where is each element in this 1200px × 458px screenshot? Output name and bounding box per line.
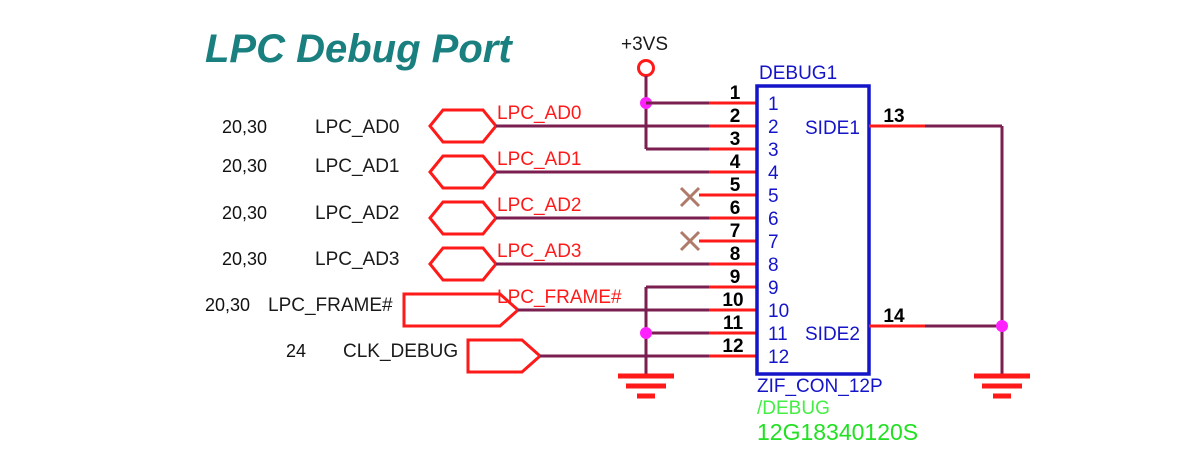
power-circle-icon bbox=[639, 61, 654, 76]
no-connect-icon-pin5 bbox=[681, 188, 699, 206]
connector-refdes: DEBUG1 bbox=[759, 63, 837, 84]
signal-name-lpc-ad2: LPC_AD2 bbox=[315, 203, 400, 224]
pin-number-9: 9 bbox=[730, 267, 741, 288]
pin-name-11: 11 bbox=[768, 324, 788, 345]
pin-number-3: 3 bbox=[730, 129, 741, 150]
pin-number-1: 1 bbox=[730, 83, 741, 104]
port-bidirectional-lpc-ad0[interactable] bbox=[430, 110, 496, 142]
net-label-lpc-ad1: LPC_AD1 bbox=[497, 149, 582, 170]
ground-left-group bbox=[618, 287, 731, 396]
pin-name-1: 1 bbox=[768, 94, 779, 115]
page-ref-clk-debug: 24 bbox=[286, 341, 306, 361]
pin-number-6: 6 bbox=[730, 198, 741, 219]
page-ref-lpc-frame: 20,30 bbox=[205, 295, 250, 315]
signal-row-lpc-ad2[interactable]: 20,30 LPC_AD2 LPC_AD2 bbox=[222, 195, 731, 234]
schematic-canvas: LPC Debug Port +3VS 20,30 LPC_AD0 LPC_AD… bbox=[0, 0, 1200, 458]
power-net-label: +3VS bbox=[621, 34, 668, 55]
junction-dot-ground-left bbox=[640, 327, 652, 339]
power-symbol-3vs: +3VS bbox=[621, 34, 668, 149]
pin-name-2: 2 bbox=[768, 117, 779, 138]
pin-name-8: 8 bbox=[768, 255, 779, 276]
no-connect-icon-pin7 bbox=[681, 232, 699, 250]
page-ref-lpc-ad0: 20,30 bbox=[222, 117, 267, 137]
page-ref-lpc-ad3: 20,30 bbox=[222, 249, 267, 269]
pin-number-7: 7 bbox=[730, 221, 741, 242]
pin-number-14: 14 bbox=[883, 306, 905, 327]
pin-number-11: 11 bbox=[723, 313, 744, 334]
pin-number-12: 12 bbox=[722, 336, 743, 357]
connector-designator-note: /DEBUG bbox=[757, 398, 830, 419]
pin-number-5: 5 bbox=[730, 175, 741, 196]
pin-name-10: 10 bbox=[768, 301, 789, 322]
junction-dot-shield bbox=[996, 320, 1008, 332]
signal-row-lpc-ad3[interactable]: 20,30 LPC_AD3 LPC_AD3 bbox=[222, 241, 731, 280]
pin-number-10: 10 bbox=[722, 290, 743, 311]
signal-name-clk-debug: CLK_DEBUG bbox=[343, 341, 458, 362]
signal-row-lpc-ad0[interactable]: 20,30 LPC_AD0 LPC_AD0 bbox=[222, 103, 731, 142]
pin-name-9: 9 bbox=[768, 278, 779, 299]
signal-name-lpc-ad3: LPC_AD3 bbox=[315, 249, 400, 270]
shield-net-group: 13 14 bbox=[869, 106, 1030, 396]
net-label-lpc-ad3: LPC_AD3 bbox=[497, 241, 582, 262]
connector-left-pins: 1 1 2 2 3 3 4 4 5 5 6 6 7 7 bbox=[699, 83, 789, 368]
signal-row-clk-debug[interactable]: 24 CLK_DEBUG bbox=[286, 340, 731, 372]
port-output-clk-debug[interactable] bbox=[468, 340, 540, 372]
page-ref-lpc-ad1: 20,30 bbox=[222, 156, 267, 176]
signal-name-lpc-ad0: LPC_AD0 bbox=[315, 117, 400, 138]
signal-name-lpc-ad1: LPC_AD1 bbox=[315, 156, 400, 177]
pin-name-6: 6 bbox=[768, 209, 779, 230]
pin-number-8: 8 bbox=[730, 244, 741, 265]
net-label-lpc-ad0: LPC_AD0 bbox=[497, 103, 582, 124]
pin-name-5: 5 bbox=[768, 186, 779, 207]
pin-number-13: 13 bbox=[883, 106, 904, 127]
signal-row-lpc-ad1[interactable]: 20,30 LPC_AD1 LPC_AD1 bbox=[222, 149, 731, 188]
pin-name-4: 4 bbox=[768, 163, 779, 184]
connector-part-number: 12G18340120S bbox=[757, 419, 918, 445]
schematic-sheet: LPC Debug Port +3VS 20,30 LPC_AD0 LPC_AD… bbox=[0, 0, 1200, 458]
pin-name-12: 12 bbox=[768, 347, 789, 368]
net-label-lpc-frame: LPC_FRAME# bbox=[497, 287, 622, 308]
page-ref-lpc-ad2: 20,30 bbox=[222, 203, 267, 223]
side2-label: SIDE2 bbox=[805, 324, 860, 345]
signal-name-lpc-frame: LPC_FRAME# bbox=[268, 295, 393, 316]
pin-number-2: 2 bbox=[730, 106, 741, 127]
signal-row-lpc-frame[interactable]: 20,30 LPC_FRAME# LPC_FRAME# bbox=[205, 287, 731, 326]
net-label-lpc-ad2: LPC_AD2 bbox=[497, 195, 582, 216]
connector-part-type: ZIF_CON_12P bbox=[757, 376, 883, 397]
side1-label: SIDE1 bbox=[805, 118, 860, 139]
port-bidirectional-lpc-ad1[interactable] bbox=[430, 156, 496, 188]
pin-name-7: 7 bbox=[768, 232, 779, 253]
page-title: LPC Debug Port bbox=[205, 27, 513, 71]
pin-name-3: 3 bbox=[768, 140, 779, 161]
port-bidirectional-lpc-ad3[interactable] bbox=[430, 248, 496, 280]
port-bidirectional-lpc-ad2[interactable] bbox=[430, 202, 496, 234]
pin-number-4: 4 bbox=[730, 152, 741, 173]
